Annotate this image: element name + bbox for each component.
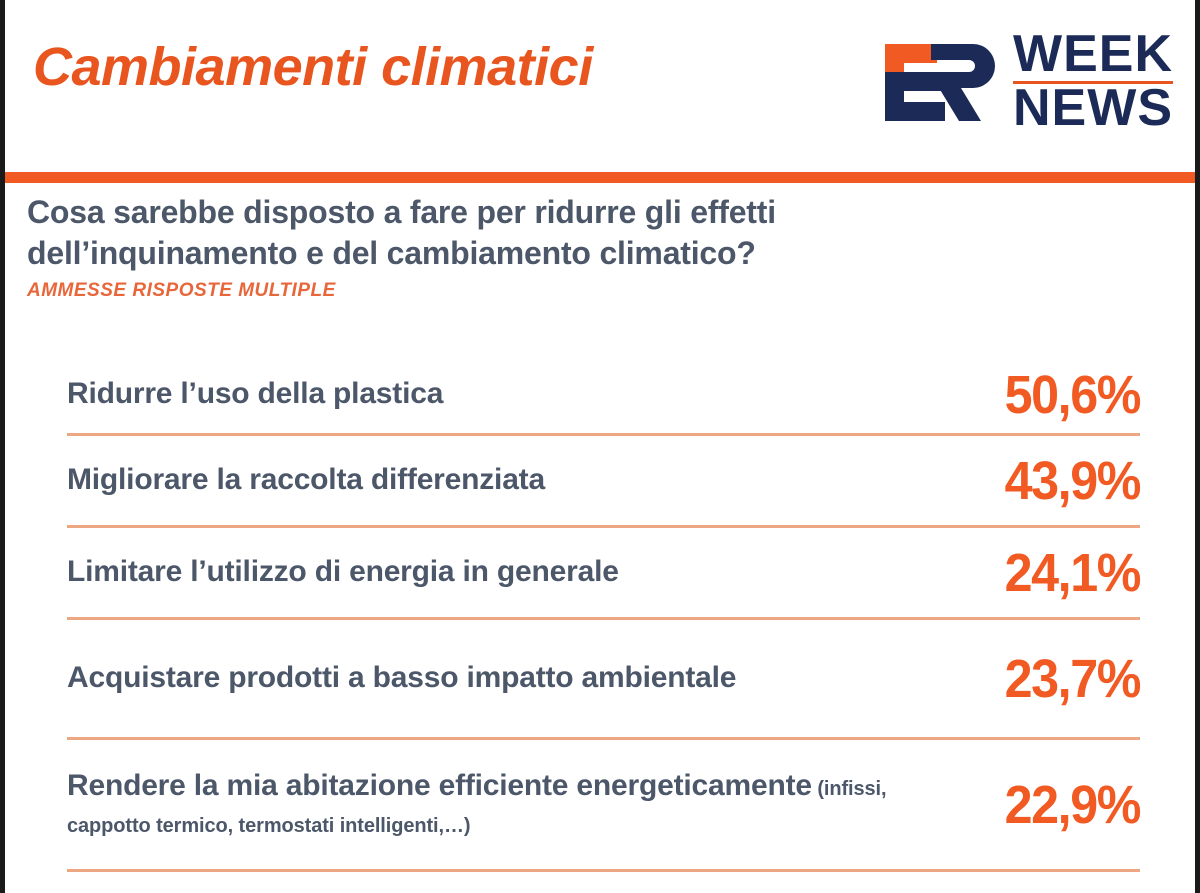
result-value: 50,6% xyxy=(963,364,1140,426)
result-label-text: Acquistare prodotti a basso impatto ambi… xyxy=(67,661,736,694)
table-row: Acquistare prodotti a basso impatto ambi… xyxy=(67,620,1140,740)
table-row: Migliorare la raccolta differenziata 43,… xyxy=(67,436,1140,528)
result-label-text: Limitare l’utilizzo di energia in genera… xyxy=(67,555,619,588)
table-row: Ridurre l’uso della plastica 50,6% xyxy=(67,356,1140,436)
er-monogram-icon xyxy=(875,32,1007,132)
logo-word-week: WEEK xyxy=(1013,31,1173,79)
result-label: Acquistare prodotti a basso impatto ambi… xyxy=(67,660,930,697)
question-line-1: Cosa sarebbe disposto a fare per ridurre… xyxy=(27,192,1027,233)
result-label-text: Ridurre l’uso della plastica xyxy=(67,377,443,410)
logo-word-news: NEWS xyxy=(1013,85,1173,133)
result-label-text: Migliorare la raccolta differenziata xyxy=(67,463,545,496)
result-label: Rendere la mia abitazione efficiente ene… xyxy=(67,768,930,841)
results-list: Ridurre l’uso della plastica 50,6% Migli… xyxy=(67,356,1140,872)
result-value: 22,9% xyxy=(963,774,1140,836)
table-row: Rendere la mia abitazione efficiente ene… xyxy=(67,740,1140,872)
result-label-text: Rendere la mia abitazione efficiente ene… xyxy=(67,769,812,802)
result-value: 24,1% xyxy=(963,542,1140,604)
question-block: Cosa sarebbe disposto a fare per ridurre… xyxy=(27,192,1027,302)
question-note: AMMESSE RISPOSTE MULTIPLE xyxy=(27,280,1027,302)
result-label: Ridurre l’uso della plastica xyxy=(67,376,930,413)
result-label: Limitare l’utilizzo di energia in genera… xyxy=(67,554,930,591)
table-row: Limitare l’utilizzo di energia in genera… xyxy=(67,528,1140,620)
result-label: Migliorare la raccolta differenziata xyxy=(67,462,930,499)
result-value: 43,9% xyxy=(963,450,1140,512)
result-value: 23,7% xyxy=(963,648,1140,710)
brand-logo: WEEK NEWS xyxy=(875,30,1173,134)
logo-wordmark: WEEK NEWS xyxy=(1013,31,1173,133)
header-separator-bar xyxy=(5,172,1195,183)
page-title: Cambiamenti climatici xyxy=(33,36,593,98)
question-line-2: dell’inquinamento e del cambiamento clim… xyxy=(27,233,1027,274)
header: Cambiamenti climatici WEEK NEWS xyxy=(5,0,1195,178)
infographic-slide: Cambiamenti climatici WEEK NEWS Cosa sar… xyxy=(0,0,1200,893)
